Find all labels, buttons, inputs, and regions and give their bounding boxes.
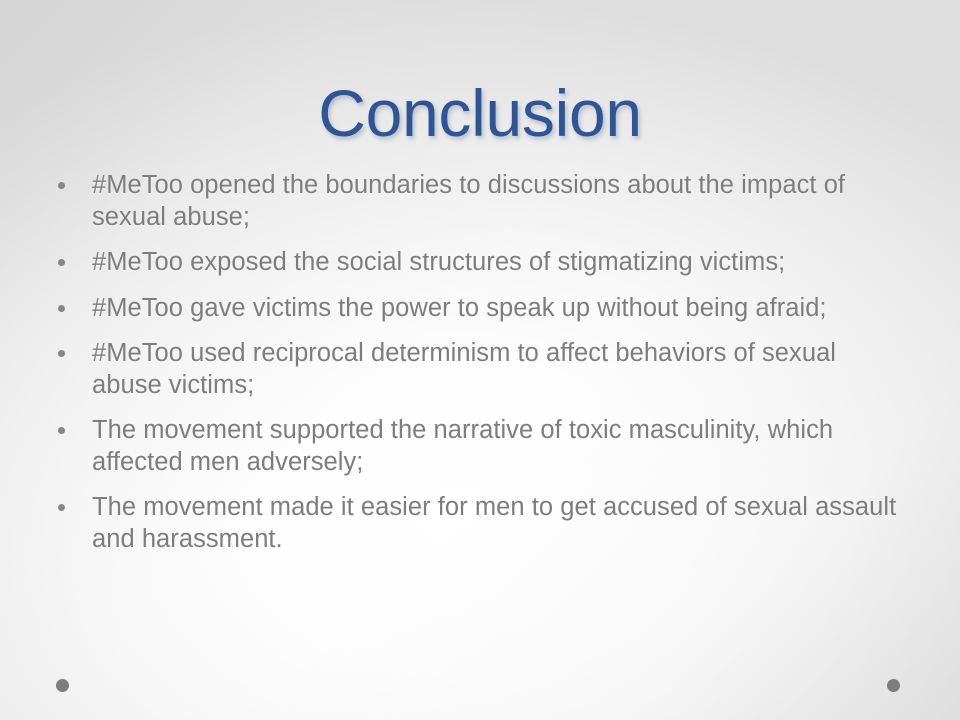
bullet-dot-icon bbox=[58, 305, 65, 312]
bullet-text: #MeToo used reciprocal determinism to af… bbox=[92, 338, 908, 401]
bullet-text: #MeToo exposed the social structures of … bbox=[92, 247, 908, 279]
bullet-text: #MeToo opened the boundaries to discussi… bbox=[92, 170, 908, 233]
list-item: #MeToo gave victims the power to speak u… bbox=[46, 293, 908, 325]
bullet-text: The movement supported the narrative of … bbox=[92, 415, 908, 478]
list-item: #MeToo exposed the social structures of … bbox=[46, 247, 908, 279]
list-item: #MeToo opened the boundaries to discussi… bbox=[46, 170, 908, 233]
list-item: #MeToo used reciprocal determinism to af… bbox=[46, 338, 908, 401]
bullet-dot-icon bbox=[58, 350, 65, 357]
list-item: The movement made it easier for men to g… bbox=[46, 492, 908, 555]
decorative-dot-right-icon bbox=[887, 679, 900, 692]
bullet-text: #MeToo gave victims the power to speak u… bbox=[92, 293, 908, 325]
bullet-list: #MeToo opened the boundaries to discussi… bbox=[46, 170, 908, 555]
bullet-dot-icon bbox=[58, 427, 65, 434]
bullet-text: The movement made it easier for men to g… bbox=[92, 492, 908, 555]
bullet-dot-icon bbox=[58, 182, 65, 189]
slide-title: Conclusion bbox=[0, 74, 960, 152]
bullet-dot-icon bbox=[58, 504, 65, 511]
bullet-dot-icon bbox=[58, 259, 65, 266]
presentation-slide: Conclusion #MeToo opened the boundaries … bbox=[0, 0, 960, 720]
list-item: The movement supported the narrative of … bbox=[46, 415, 908, 478]
decorative-dot-left-icon bbox=[56, 679, 69, 692]
slide-content: Conclusion #MeToo opened the boundaries … bbox=[0, 0, 960, 720]
